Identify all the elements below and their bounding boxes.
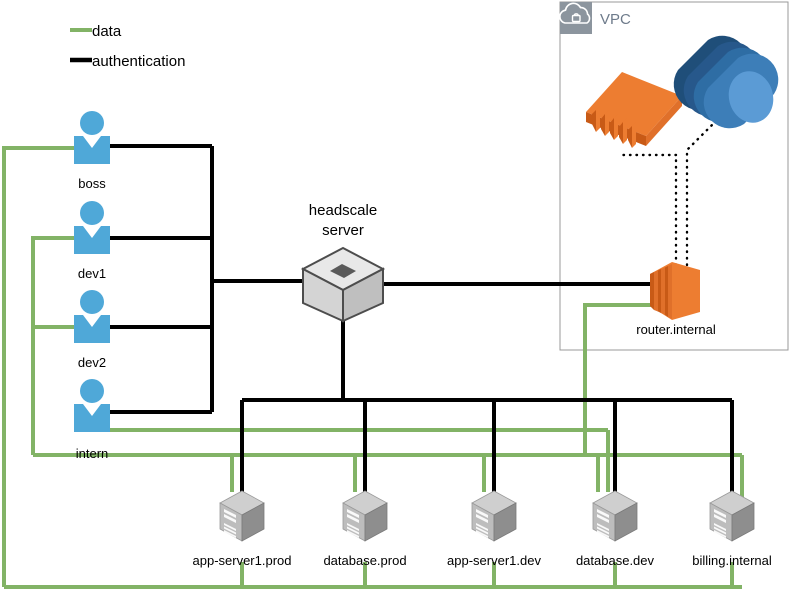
legend-item-data: data [70, 23, 122, 40]
server-icon [593, 491, 637, 541]
headscale-label-line2: server [322, 222, 364, 239]
user-icon [74, 111, 110, 164]
node-label-billing-internal: billing.internal [692, 553, 772, 568]
node-dev1[interactable]: dev1 [74, 201, 110, 281]
node-billing-internal[interactable]: billing.internal [692, 491, 772, 568]
node-label-database-dev: database.dev [576, 553, 655, 568]
node-label-boss: boss [78, 176, 106, 191]
node-boss[interactable]: boss [74, 111, 110, 191]
user-icon [74, 379, 110, 432]
node-dev2[interactable]: dev2 [74, 290, 110, 370]
legend-label-authentication: authentication [92, 53, 185, 70]
data-link-boss [4, 148, 74, 587]
user-icon [74, 290, 110, 343]
node-headscale-server[interactable]: headscale server [303, 202, 383, 321]
vpc-title: VPC [600, 11, 631, 28]
network-diagram: VPC [0, 0, 792, 593]
node-label-database-prod: database.prod [323, 553, 406, 568]
node-label-dev1: dev1 [78, 266, 106, 281]
node-database-dev[interactable]: database.dev [576, 491, 655, 568]
node-label-intern: intern [76, 446, 109, 461]
server-icon [710, 491, 754, 541]
data-link-dev1 [33, 238, 74, 455]
node-intern[interactable]: intern [74, 379, 110, 461]
server-icon [472, 491, 516, 541]
server-icon [220, 491, 264, 541]
node-database-prod[interactable]: database.prod [323, 491, 406, 568]
node-label-app-server1-dev: app-server1.dev [447, 553, 541, 568]
server-icon [343, 491, 387, 541]
headscale-label-line1: headscale [309, 202, 377, 219]
node-app-server1-prod[interactable]: app-server1.prod [193, 491, 292, 568]
user-icon [74, 201, 110, 254]
node-label-dev2: dev2 [78, 355, 106, 370]
legend-label-data: data [92, 23, 122, 40]
users-group: boss dev1 dev2 intern [74, 111, 110, 461]
router-icon [650, 262, 700, 320]
node-app-server1-dev[interactable]: app-server1.dev [447, 491, 541, 568]
legend: data authentication [70, 23, 185, 70]
cube-icon [303, 248, 383, 321]
node-label-app-server1-prod: app-server1.prod [193, 553, 292, 568]
node-label-router: router.internal [636, 322, 716, 337]
servers-group: app-server1.prod database.prod app-serve… [193, 491, 772, 568]
legend-item-authentication: authentication [70, 53, 185, 70]
vpc-tab [560, 2, 592, 34]
